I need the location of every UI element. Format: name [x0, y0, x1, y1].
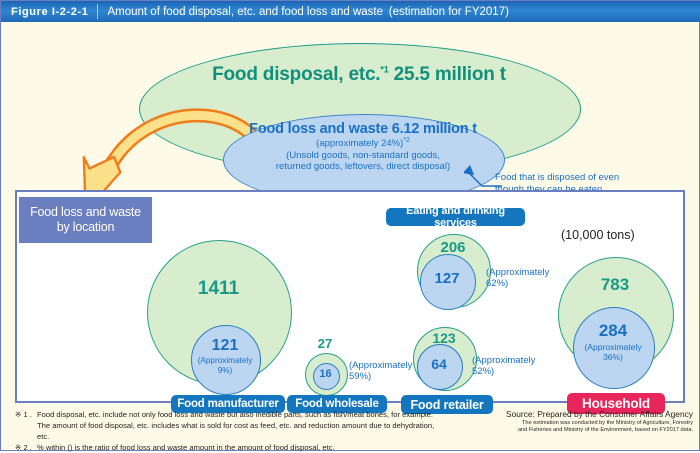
- unit-label: (10,000 tons): [561, 228, 635, 242]
- side-pct-line2-food-wholesale: 59%): [349, 371, 419, 382]
- inner-pct-household: (Approximately 36%): [568, 342, 658, 362]
- food-loss-waste-label: Food loss and waste 6.12 million t: [223, 121, 503, 137]
- footnotes: ※ 1 . Food disposal, etc. include not on…: [15, 409, 445, 453]
- side-pct-line1-eating-and-drinking-services: (Approximately: [486, 267, 558, 278]
- source-main: Source: Prepared by the Consumer Affairs…: [479, 409, 693, 419]
- food-loss-waste-detail: (Unsold goods, non-standard goods, retur…: [223, 150, 503, 172]
- page-title: Amount of food disposal, etc. and food l…: [98, 6, 508, 18]
- outer-value-food-wholesale: 27: [296, 336, 354, 351]
- side-pct-line2-eating-and-drinking-services: 62%): [486, 278, 558, 289]
- outer-value-eating-and-drinking-services: 206: [417, 239, 489, 256]
- by-location-heading-line2: by location: [30, 220, 141, 235]
- side-pct-line2-food-retailer: 52%): [472, 366, 544, 377]
- by-location-heading: Food loss and waste by location: [19, 197, 152, 243]
- inner-value-food-wholesale: 16: [313, 368, 338, 380]
- footnote-1-mark: ※ 1 .: [15, 409, 37, 420]
- side-pct-food-retailer: (Approximately 52%): [472, 355, 544, 377]
- annotation-line-1: Food that is disposed of even: [495, 172, 695, 184]
- footnote-ref-2: *2: [403, 137, 410, 144]
- inner-pct-line1-household: (Approximately: [568, 342, 658, 352]
- food-loss-waste-detail-line2: returned goods, leftovers, direct dispos…: [223, 161, 503, 172]
- food-disposal-text: Food disposal, etc.: [212, 64, 380, 85]
- side-pct-food-wholesale: (Approximately 59%): [349, 360, 419, 382]
- by-location-heading-line1: Food loss and waste: [30, 205, 141, 220]
- figure-canvas: Food disposal, etc.*1 25.5 million t Foo…: [1, 22, 699, 450]
- footnote-1-line1: Food disposal, etc. include not only foo…: [37, 409, 445, 420]
- source-sub-line1: The estimation was conducted by the Mini…: [479, 420, 693, 427]
- footnote-2-line1: % within () is the ratio of food loss an…: [37, 442, 445, 453]
- outer-value-household: 783: [558, 275, 672, 295]
- inner-value-food-retailer: 64: [417, 356, 461, 372]
- footnote-1: ※ 1 . Food disposal, etc. include not on…: [15, 409, 445, 420]
- figure-container: Figure I-2-2-1 Amount of food disposal, …: [0, 0, 700, 451]
- footnote-ref-1: *1: [380, 65, 388, 75]
- source-sub: The estimation was conducted by the Mini…: [479, 420, 693, 435]
- outer-value-food-manufacturer: 1411: [147, 278, 290, 300]
- side-pct-line1-food-retailer: (Approximately: [472, 355, 544, 366]
- footnote-2: ※ 2 . % within () is the ratio of food l…: [15, 442, 445, 453]
- side-pct-eating-and-drinking-services: (Approximately 62%): [486, 267, 558, 289]
- figure-number: Figure I-2-2-1: [1, 6, 97, 18]
- food-disposal-label: Food disposal, etc.*1 25.5 million t: [139, 64, 579, 86]
- footnote-2-mark: ※ 2 .: [15, 442, 37, 453]
- side-pct-line1-food-wholesale: (Approximately: [349, 360, 419, 371]
- figure-title-bar: Figure I-2-2-1 Amount of food disposal, …: [1, 1, 700, 22]
- inner-pct-line1-food-manufacturer: (Approximately: [183, 356, 267, 366]
- footnote-1-line2: The amount of food disposal, etc. includ…: [15, 420, 445, 442]
- category-label-eating-and-drinking-services[interactable]: Eating and drinking services: [386, 208, 525, 226]
- food-disposal-value: 25.5 million t: [394, 64, 506, 85]
- inner-value-food-manufacturer: 121: [191, 337, 259, 355]
- inner-pct-line2-household: 36%): [568, 352, 658, 362]
- inner-value-household: 284: [573, 321, 653, 341]
- food-loss-waste-text-group: Food loss and waste 6.12 million t (appr…: [223, 121, 503, 172]
- inner-pct-food-manufacturer: (Approximately 9%): [183, 356, 267, 376]
- source-block: Source: Prepared by the Consumer Affairs…: [479, 409, 693, 435]
- source-sub-line2: and Fisheries and Ministry of the Enviro…: [479, 427, 693, 434]
- food-loss-waste-pct: (approximately 24%)*2: [223, 137, 503, 149]
- food-loss-waste-pct-text: (approximately 24%): [316, 138, 403, 149]
- food-loss-waste-detail-line1: (Unsold goods, non-standard goods,: [223, 150, 503, 161]
- inner-value-eating-and-drinking-services: 127: [420, 270, 474, 287]
- inner-pct-line2-food-manufacturer: 9%): [183, 366, 267, 376]
